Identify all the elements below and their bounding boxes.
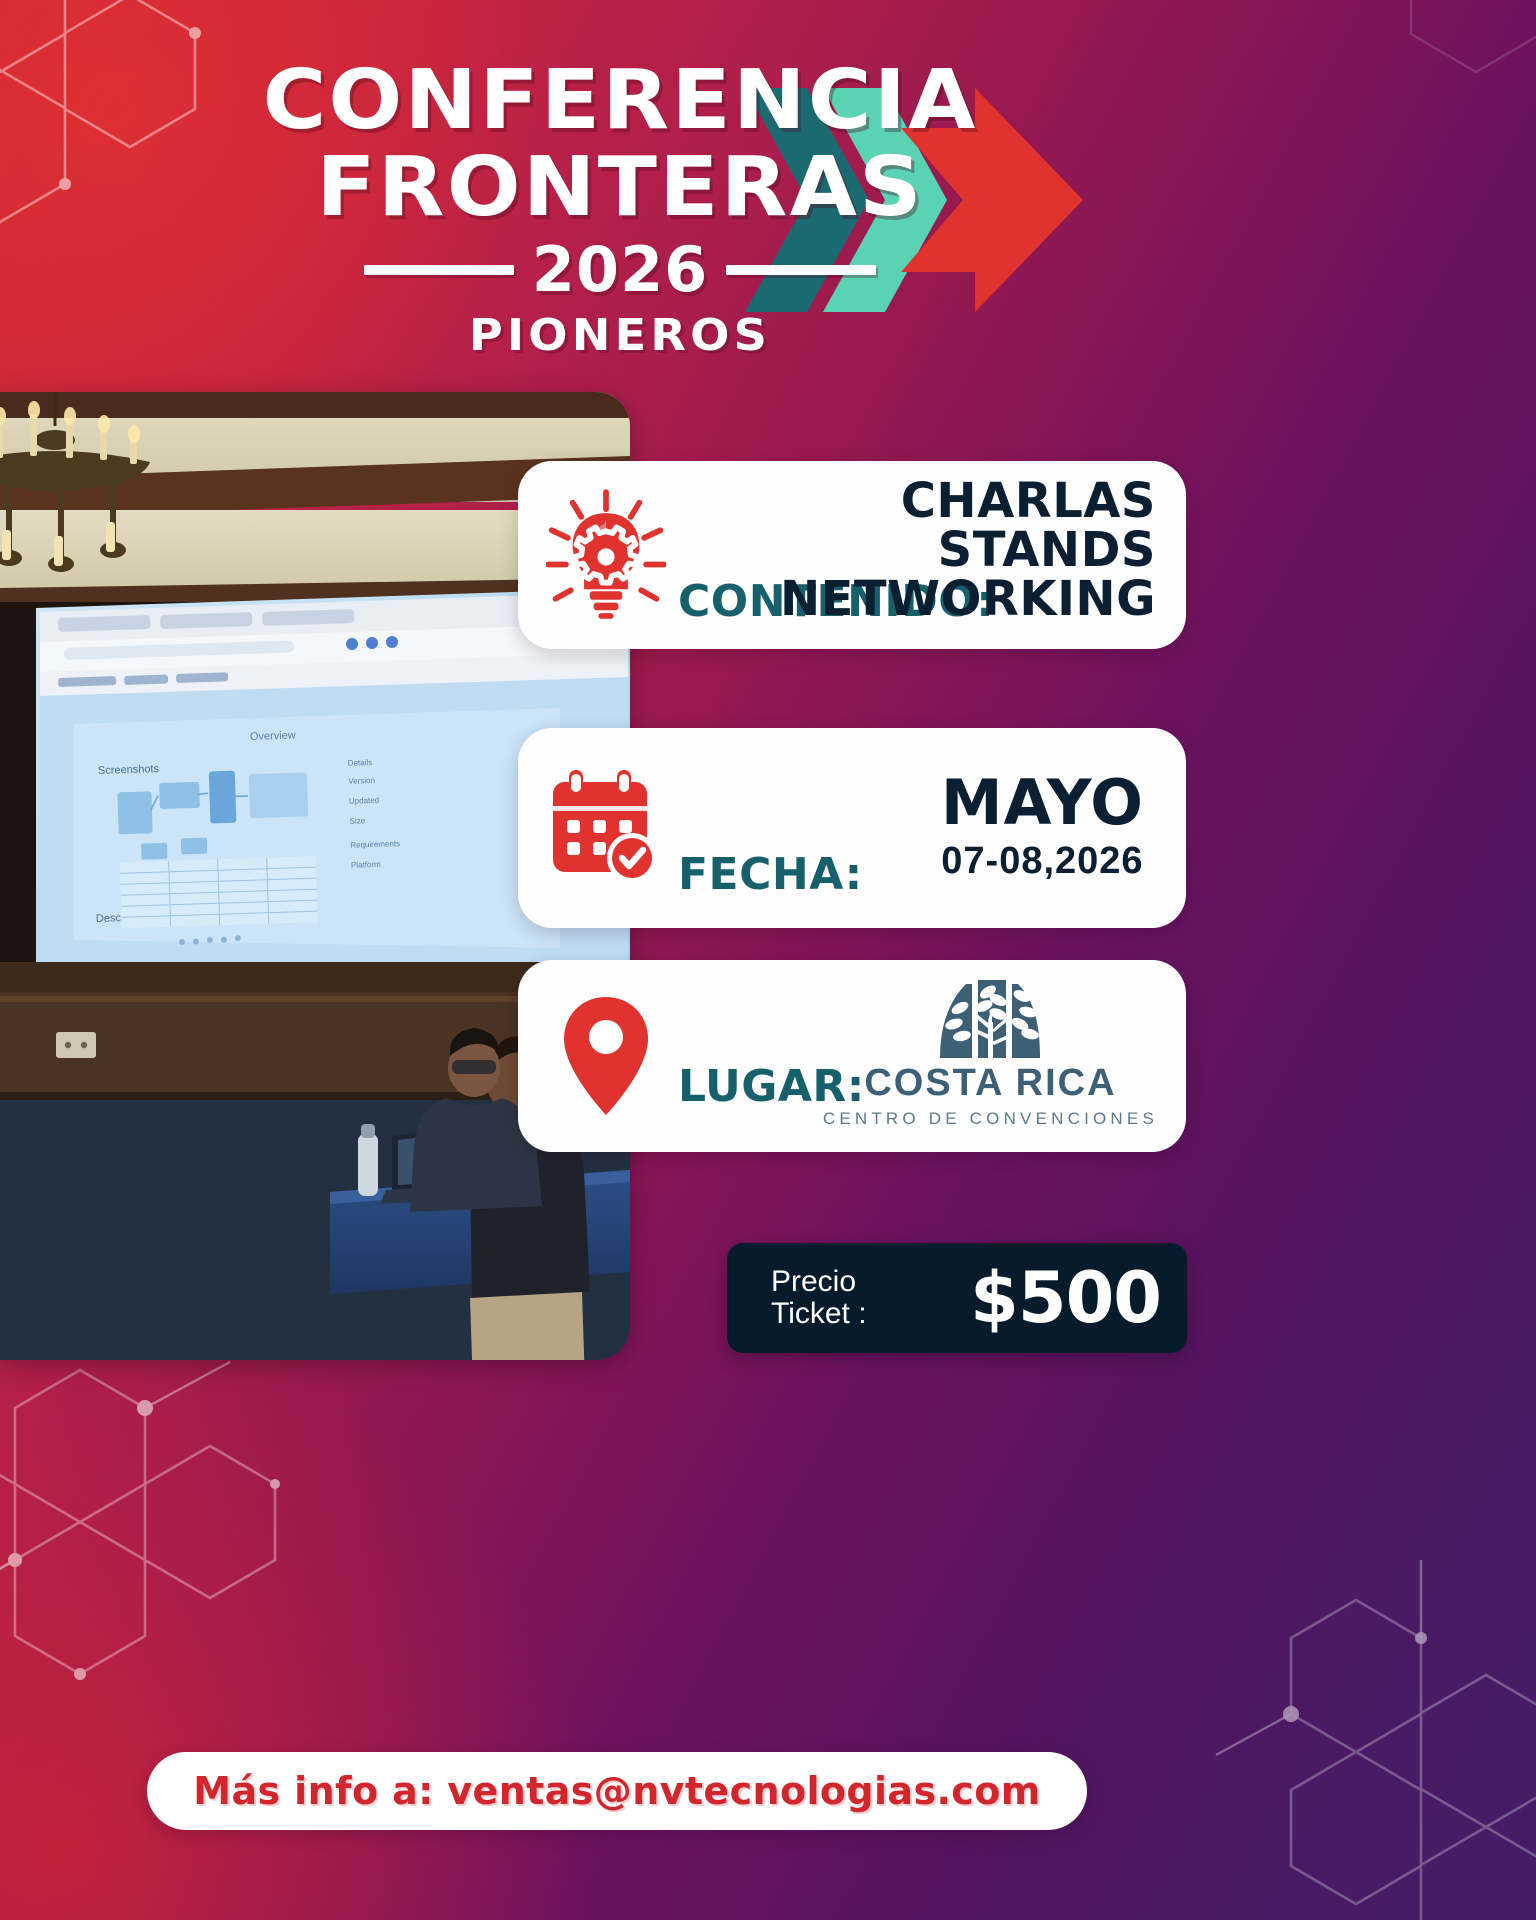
year-rule-left — [364, 265, 514, 275]
svg-text:Details: Details — [348, 758, 373, 768]
info-card-contenido[interactable]: CONTENIDO: CHARLAS STANDS NETWORKING — [518, 461, 1186, 649]
price-amount: $500 — [970, 1257, 1161, 1339]
svg-text:Version: Version — [348, 776, 375, 786]
svg-text:Platform: Platform — [351, 860, 381, 870]
poster-year: 2026 — [532, 233, 709, 306]
svg-text:Size: Size — [349, 816, 365, 826]
poster-title-line1: CONFERENCIA — [201, 62, 1038, 141]
venue-name: COSTA RICA — [864, 1062, 1116, 1105]
footer-contact-text: Más info a: ventas@nvtecnologias.com — [193, 1769, 1040, 1813]
title-block: CONFERENCIA FRONTERAS 2026 PIONEROS — [225, 62, 1015, 361]
calendar-check-icon — [546, 768, 666, 888]
info-card-lugar[interactable]: LUGAR: — [518, 960, 1186, 1152]
svg-text:Overview: Overview — [250, 730, 296, 743]
map-pin-icon — [546, 996, 666, 1116]
poster-title-line2: FRONTERAS — [201, 149, 1038, 228]
year-rule-right — [726, 265, 876, 275]
info-card-fecha[interactable]: FECHA: MAYO 07-08,2026 — [518, 728, 1186, 928]
poster-tagline: PIONEROS — [205, 310, 1035, 361]
svg-text:Requirements: Requirements — [350, 839, 400, 850]
fecha-label: FECHA: — [678, 849, 863, 900]
fecha-values: MAYO 07-08,2026 — [941, 772, 1144, 883]
contenido-value-2: STANDS — [780, 526, 1156, 575]
venue-subtitle: CENTRO DE CONVENCIONES — [823, 1109, 1158, 1129]
tree-panels-icon — [936, 974, 1044, 1060]
price-badge[interactable]: Precio Ticket : $500 — [727, 1243, 1187, 1353]
fecha-month: MAYO — [941, 772, 1144, 834]
year-row: 2026 — [225, 233, 1015, 306]
contenido-values: CHARLAS STANDS NETWORKING — [780, 477, 1156, 624]
poster-canvas: CONFERENCIA FRONTERAS 2026 PIONEROS — [0, 0, 1536, 1920]
hexagon-network-decoration-bottom-right — [1176, 1530, 1536, 1920]
footer-contact-bar[interactable]: Más info a: ventas@nvtecnologias.com — [147, 1752, 1087, 1830]
svg-text:Updated: Updated — [349, 796, 380, 806]
svg-text:Screenshots: Screenshots — [98, 763, 160, 777]
fecha-days: 07-08,2026 — [941, 840, 1144, 883]
lightbulb-brain-gear-icon — [546, 495, 666, 615]
price-label: Precio Ticket : — [771, 1266, 867, 1331]
contenido-value-1: CHARLAS — [780, 477, 1156, 526]
contenido-value-3: NETWORKING — [780, 575, 1156, 624]
fecha-label-wrap: FECHA: — [678, 849, 863, 900]
venue-logo-block: COSTA RICA CENTRO DE CONVENCIONES — [823, 974, 1158, 1129]
poster-header: CONFERENCIA FRONTERAS 2026 PIONEROS — [0, 0, 1536, 380]
hexagon-network-decoration-bottom-left — [0, 1310, 350, 1780]
